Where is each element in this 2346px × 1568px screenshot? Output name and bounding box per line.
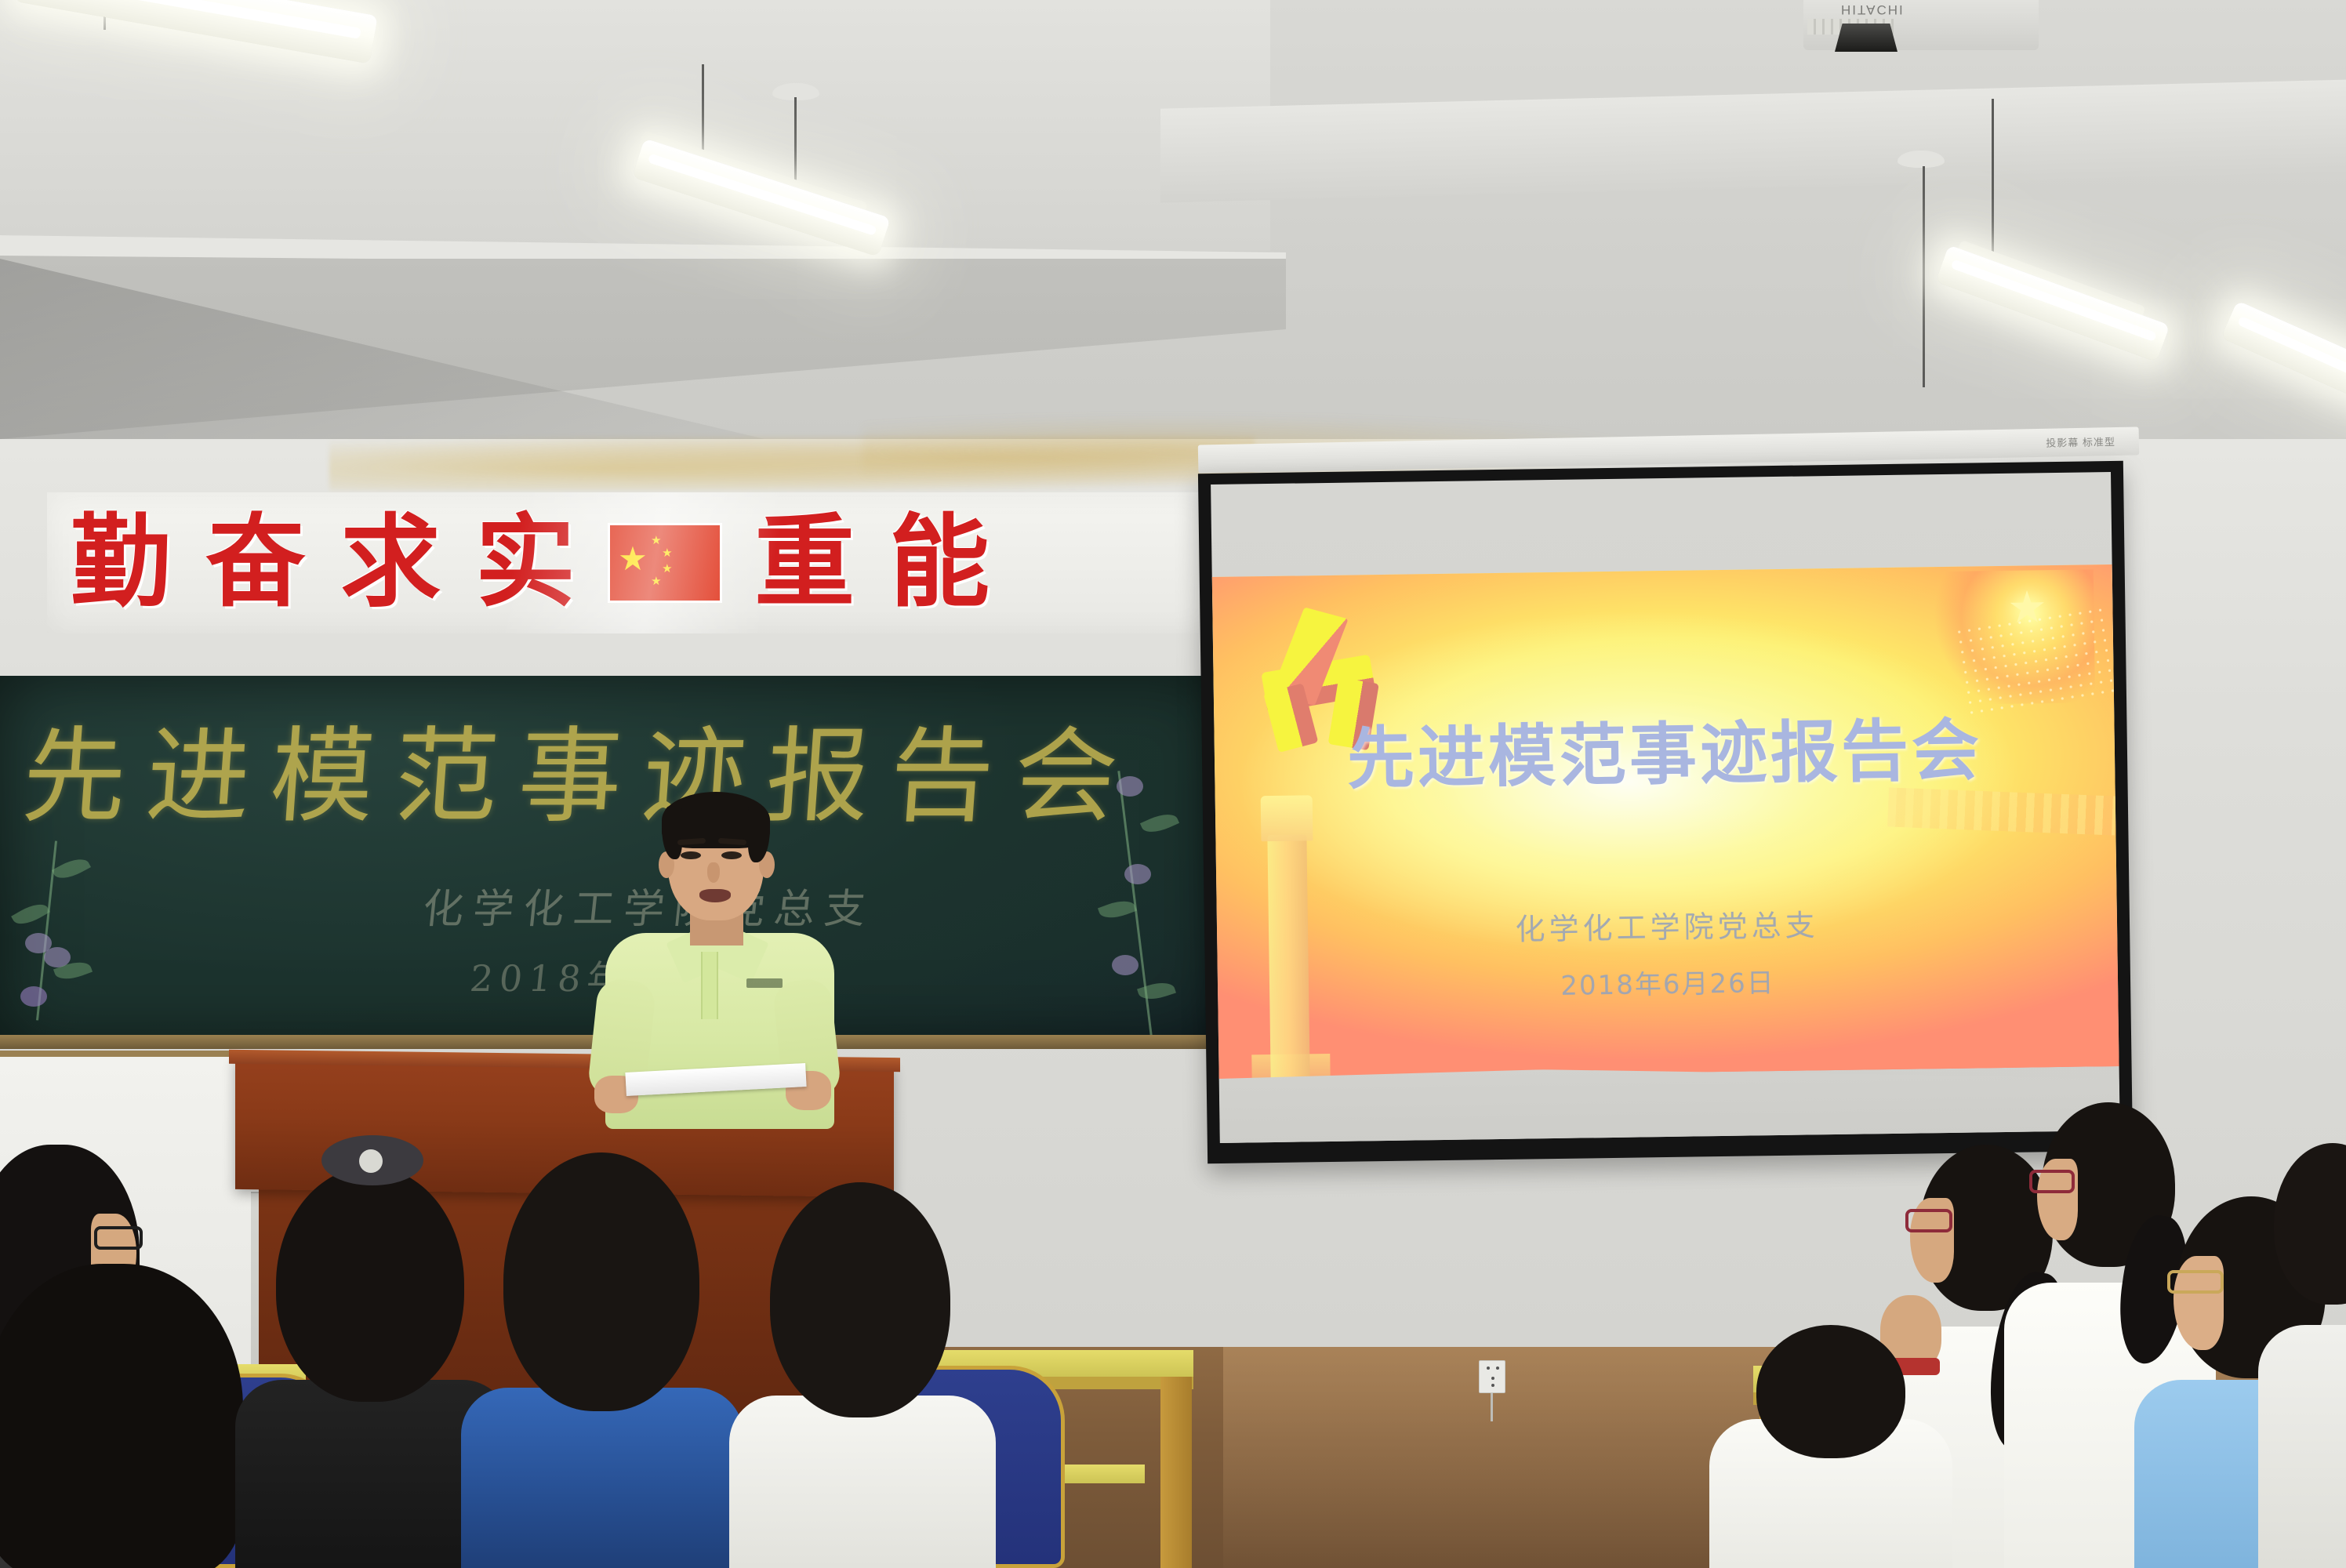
outlet-cord [1491, 1393, 1493, 1421]
audience-member [2258, 1129, 2346, 1568]
light-hanger-wire [1923, 166, 1925, 387]
china-flag-icon: ★ ★ ★ ★ ★ [610, 525, 720, 601]
projector-brand-label: HITACHI [1841, 2, 1998, 17]
light-ceiling-cap [1897, 151, 1945, 168]
hair-bow-pearl [359, 1149, 383, 1173]
audience-member [0, 1264, 243, 1568]
presenter-nose [707, 862, 720, 883]
audience-torso [729, 1396, 996, 1568]
audience-head [503, 1152, 699, 1411]
great-wall-decoration [1887, 787, 2116, 835]
presenter-eye-left [681, 851, 701, 859]
banner-char-6: 能 [889, 513, 990, 613]
audience-head [1756, 1325, 1905, 1458]
audience-torso [461, 1388, 743, 1568]
audience-head [2274, 1143, 2346, 1305]
projection-screen-surface: ★ 先进模范事迹报告会 化学化工学院党总支 2018年6月26日 [1211, 472, 2120, 1143]
presenter-eye-right [721, 851, 742, 859]
slide-organization: 化学化工学院党总支 [1217, 897, 2118, 953]
presenter-mouth [699, 889, 731, 902]
wall-banner: 勤 奋 求 实 ★ ★ ★ ★ ★ 重 能 [47, 492, 1215, 633]
slide-date: 2018年6月26日 [1218, 956, 2119, 1007]
audience-member [1709, 1325, 1945, 1568]
banner-char-3: 求 [340, 513, 441, 613]
eyeglasses-red [2029, 1170, 2075, 1193]
audience-head [276, 1167, 464, 1402]
student-desk-leg [1160, 1377, 1192, 1568]
audience-head [770, 1182, 950, 1417]
audience-torso [2258, 1325, 2346, 1568]
eyeglasses-gold [2167, 1270, 2224, 1294]
banner-char-5: 重 [754, 513, 855, 613]
banner-char-4: 实 [475, 513, 576, 613]
slide-title: 先进模范事迹报告会 [1214, 693, 2115, 804]
wall-power-outlet[interactable] [1479, 1360, 1505, 1393]
presenter-shirt-logo [746, 978, 783, 988]
projector-lens-icon [1835, 24, 1897, 52]
banner-char-2: 奋 [205, 513, 306, 613]
projection-screen: ★ 先进模范事迹报告会 化学化工学院党总支 2018年6月26日 [1198, 461, 2133, 1163]
ceiling-soffit [0, 0, 1270, 251]
audience-member [729, 1176, 988, 1568]
audience-head [0, 1264, 243, 1568]
presenter [580, 784, 862, 1113]
eyeglasses [94, 1226, 143, 1250]
screen-roller-label: 投影幕 标准型 [2046, 434, 2115, 450]
audience-member [469, 1152, 728, 1568]
classroom-scene: HITACHI 勤 奋 求 实 ★ ★ ★ ★ ★ [0, 0, 2346, 1568]
presentation-slide: ★ 先进模范事迹报告会 化学化工学院党总支 2018年6月26日 [1212, 564, 2119, 1079]
presenter-shirt-placket [701, 952, 718, 1019]
eyeglasses [1905, 1209, 1952, 1232]
banner-character-row: 勤 奋 求 实 ★ ★ ★ ★ ★ 重 能 [47, 492, 1215, 633]
banner-char-1: 勤 [71, 513, 171, 613]
